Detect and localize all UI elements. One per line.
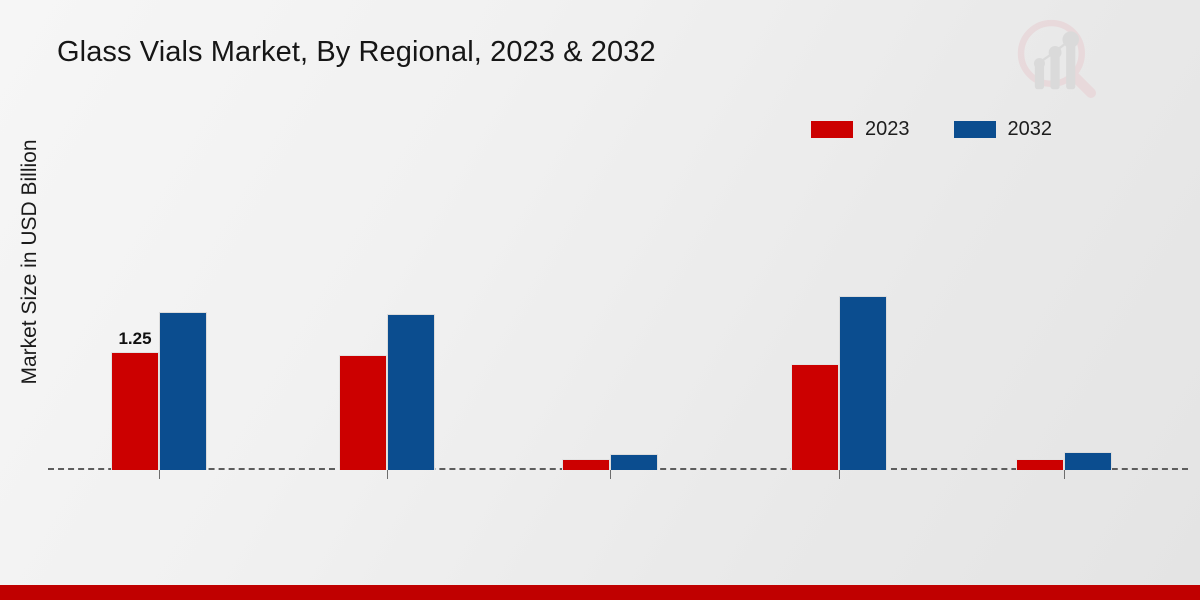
bar-2023-middle-east-and-africa[interactable] (1016, 459, 1064, 470)
bar-2023-europe[interactable] (339, 355, 387, 470)
bar-2023-south-america[interactable] (562, 459, 610, 470)
bar-group-north-america: 1.25 (110, 160, 208, 470)
legend-label-2032: 2032 (1008, 118, 1053, 141)
bar-group-europe (338, 160, 436, 470)
chart-legend: 2023 2032 (811, 118, 1052, 141)
x-tick-south-america (610, 470, 611, 479)
bar-2032-south-america[interactable] (610, 454, 658, 470)
bar-value-label: 1.25 (118, 329, 151, 349)
market-research-magnifier-logo (1010, 12, 1102, 104)
legend-item-2023[interactable]: 2023 (811, 118, 910, 141)
page-title: Glass Vials Market, By Regional, 2023 & … (57, 36, 656, 69)
bar-2032-asia-pacific[interactable] (839, 296, 887, 470)
legend-swatch-2023 (811, 121, 853, 138)
x-tick-europe (387, 470, 388, 479)
bar-2032-europe[interactable] (387, 314, 435, 470)
x-tick-middle-east-and-africa (1064, 470, 1065, 479)
chart-plot-area: 1.25 NORTH AMERICA EUROPE SOUTH AMERICA (48, 160, 1188, 470)
bar-group-middle-east-and-africa (1015, 160, 1113, 470)
bar-group-asia-pacific (790, 160, 888, 470)
y-axis-title: Market Size in USD Billion (18, 92, 42, 432)
bar-2032-north-america[interactable] (159, 312, 207, 470)
legend-swatch-2032 (954, 121, 996, 138)
bar-group-south-america (561, 160, 659, 470)
bottom-brand-band (0, 585, 1200, 600)
bar-2023-asia-pacific[interactable] (791, 364, 839, 470)
bar-2032-middle-east-and-africa[interactable] (1064, 452, 1112, 470)
legend-item-2032[interactable]: 2032 (954, 118, 1053, 141)
x-tick-asia-pacific (839, 470, 840, 479)
x-tick-north-america (159, 470, 160, 479)
bar-2023-north-america[interactable]: 1.25 (111, 352, 159, 470)
legend-label-2023: 2023 (865, 118, 910, 141)
